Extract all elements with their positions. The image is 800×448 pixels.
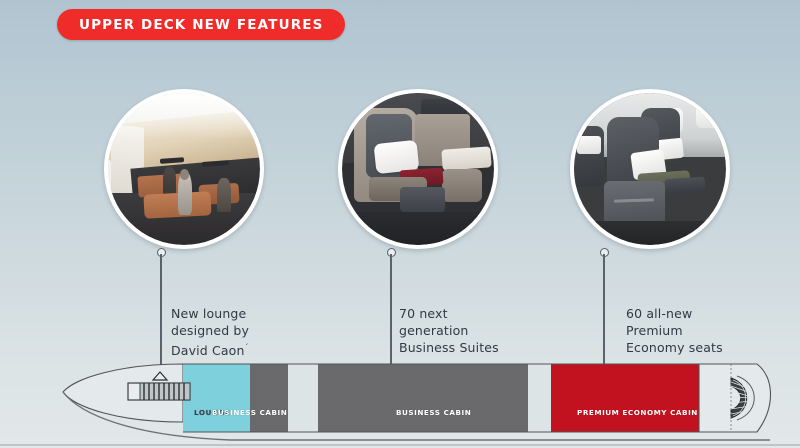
caption-lounge-superscript: ´ (245, 343, 249, 352)
caption-business: 70 next generation Business Suites (399, 288, 499, 356)
caption-premium-economy: 60 all-new Premium Economy seats (626, 288, 723, 356)
cabin-block-business-front (250, 364, 288, 432)
caption-lounge-text: New lounge designed by David Caon (171, 306, 249, 358)
connector-dot-premium-economy (600, 248, 609, 257)
business-suite-photo (342, 93, 494, 245)
infographic-canvas: UPPER DECK NEW FEATURES (0, 0, 800, 448)
cabin-block-premium-economy (551, 364, 699, 432)
cabin-label-business-front: BUSINESS CABIN (212, 408, 287, 417)
header-badge-label: UPPER DECK NEW FEATURES (79, 17, 323, 33)
deck-diagram-svg (0, 352, 800, 448)
feature-image-business (338, 89, 498, 249)
galley-gap-rear (528, 364, 551, 432)
caption-premium-economy-text: 60 all-new Premium Economy seats (626, 306, 723, 355)
caption-business-text: 70 next generation Business Suites (399, 306, 499, 355)
feature-image-premium-economy (570, 89, 730, 249)
caption-lounge: New lounge designed by David Caon´ (171, 288, 249, 359)
connector-dot-lounge (157, 248, 166, 257)
cabin-label-business-rear: BUSINESS CABIN (396, 408, 471, 417)
galley-gap-front (288, 364, 318, 432)
header-badge: UPPER DECK NEW FEATURES (57, 9, 345, 40)
cabin-block-business-rear (318, 364, 528, 432)
connector-dot-business (387, 248, 396, 257)
feature-image-lounge (104, 89, 264, 249)
cabin-label-premium-economy: PREMIUM ECONOMY CABIN (577, 408, 698, 417)
lounge-interior-photo (108, 93, 260, 245)
upper-deck-cabin-layout: LOUNGE BUSINESS CABIN BUSINESS CABIN PRE… (0, 352, 800, 448)
premium-economy-seat-photo (574, 93, 726, 245)
fuselage-tail (699, 364, 771, 432)
